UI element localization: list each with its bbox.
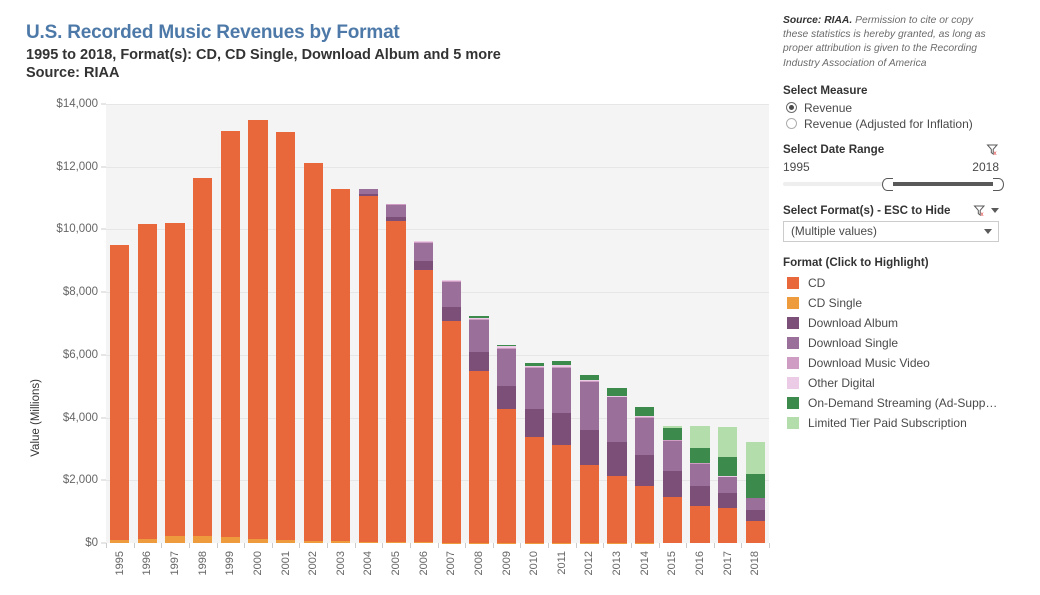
bar-segment[interactable] [580, 382, 599, 430]
chart-area: Value (Millions) $0$2,000$4,000$6,000$8,… [0, 104, 775, 595]
legend-item[interactable]: Download Single [783, 333, 1028, 353]
x-axis-tick [714, 543, 715, 548]
legend-label: Download Music Video [808, 356, 930, 370]
bar-segment[interactable] [331, 189, 350, 541]
x-axis-tick [769, 543, 770, 548]
x-axis-tick-label: 1997 [169, 551, 181, 575]
bar-stack[interactable] [580, 375, 599, 543]
plot-background [106, 104, 769, 543]
radio-selected-icon[interactable] [786, 102, 797, 113]
legend-swatch[interactable] [787, 317, 799, 329]
bar-segment[interactable] [525, 409, 544, 437]
bar-segment[interactable] [663, 428, 682, 440]
x-axis-tick [659, 543, 660, 548]
x-axis-tick [272, 543, 273, 548]
bar-segment[interactable] [607, 397, 626, 442]
bar-stack[interactable] [690, 426, 709, 543]
bar-segment[interactable] [718, 508, 737, 543]
bar-segment[interactable] [386, 205, 405, 217]
bar-segment[interactable] [110, 245, 129, 539]
legend-label: CD Single [808, 296, 862, 310]
y-axis-tick-label: $6,000 [63, 349, 98, 361]
legend-item[interactable]: Download Album [783, 313, 1028, 333]
bar-segment[interactable] [414, 243, 433, 262]
x-axis-tick-label: 2017 [722, 551, 734, 575]
bar-stack[interactable] [331, 189, 350, 543]
bar-segment[interactable] [497, 409, 516, 543]
date-range-max: 2018 [972, 160, 999, 174]
legend-item[interactable]: Limited Tier Paid Subscription [783, 413, 1028, 433]
legend-title: Format (Click to Highlight) [783, 256, 1028, 269]
legend-swatch[interactable] [787, 337, 799, 349]
bar-segment[interactable] [690, 448, 709, 463]
x-axis-tick-label: 2015 [666, 551, 678, 575]
bar-stack[interactable] [359, 189, 378, 543]
format-dropdown[interactable]: (Multiple values) [783, 221, 999, 242]
legend-swatch[interactable] [787, 357, 799, 369]
x-axis-tick [493, 543, 494, 548]
bar-stack[interactable] [525, 363, 544, 543]
legend-swatch[interactable] [787, 417, 799, 429]
x-axis-tick-label: 2011 [556, 551, 568, 575]
date-range-slider[interactable] [783, 176, 999, 192]
select-date-range-title: Select Date Range [783, 143, 884, 156]
x-axis-tick [741, 543, 742, 548]
x-axis-tick [244, 543, 245, 548]
bar-segment[interactable] [663, 441, 682, 471]
y-axis-tick-label: $4,000 [63, 412, 98, 424]
x-axis-tick-label: 1995 [114, 551, 126, 575]
bar-segment[interactable] [248, 120, 267, 539]
x-axis-tick [631, 543, 632, 548]
bar-segment[interactable] [746, 442, 765, 474]
x-axis-labels: 1995199619971998199920002001200220032004… [106, 543, 769, 595]
bar-series [106, 104, 769, 543]
source-note-bold: Source: RIAA. [783, 15, 852, 26]
x-axis-tick-label: 2000 [252, 551, 264, 575]
x-axis-tick-label: 2007 [445, 551, 457, 575]
bar-segment[interactable] [525, 437, 544, 543]
radio-unselected-icon[interactable] [786, 118, 797, 129]
bar-segment[interactable] [718, 477, 737, 493]
y-axis-tick-label: $12,000 [56, 161, 98, 173]
bar-segment[interactable] [607, 442, 626, 476]
bar-segment[interactable] [635, 418, 654, 456]
bar-segment[interactable] [746, 474, 765, 498]
bar-stack[interactable] [746, 442, 765, 543]
bar-segment[interactable] [193, 178, 212, 535]
x-axis-tick-label: 1999 [224, 551, 236, 575]
bar-segment[interactable] [635, 407, 654, 416]
bar-segment[interactable] [221, 131, 240, 538]
bar-stack[interactable] [718, 427, 737, 543]
bar-stack[interactable] [304, 163, 323, 543]
y-axis-tick-label: $14,000 [56, 98, 98, 110]
date-range-values: 1995 2018 [783, 160, 999, 174]
x-axis-tick [161, 543, 162, 548]
bar-segment[interactable] [580, 430, 599, 465]
legend-label: Limited Tier Paid Subscription [808, 416, 967, 430]
bar-segment[interactable] [690, 506, 709, 543]
format-dropdown-value: (Multiple values) [791, 224, 877, 238]
bar-segment[interactable] [497, 349, 516, 386]
bar-segment[interactable] [193, 536, 212, 543]
svg-text:x: x [980, 211, 984, 217]
x-axis-tick-label: 2001 [280, 551, 292, 575]
x-axis-tick [520, 543, 521, 548]
select-measure-title: Select Measure [783, 84, 1028, 97]
radio-label-revenue-adjusted: Revenue (Adjusted for Inflation) [804, 117, 973, 131]
legend-label: CD [808, 276, 825, 290]
control-panel: Source: RIAA. Permission to cite or copy… [783, 14, 1028, 433]
bar-segment[interactable] [635, 486, 654, 542]
x-axis-tick-label: 2014 [639, 551, 651, 575]
bar-segment[interactable] [469, 352, 488, 371]
bar-stack[interactable] [386, 204, 405, 543]
bar-stack[interactable] [635, 407, 654, 543]
slider-selected-range [887, 182, 999, 186]
source-note: Source: RIAA. Permission to cite or copy… [783, 14, 995, 71]
format-filter-header: Select Format(s) - ESC to Hide x [783, 204, 999, 217]
bar-segment[interactable] [607, 476, 626, 542]
bar-stack[interactable] [663, 426, 682, 543]
select-format-title: Select Format(s) - ESC to Hide [783, 204, 951, 217]
bar-stack[interactable] [414, 241, 433, 543]
radio-label-revenue: Revenue [804, 101, 852, 115]
bar-stack[interactable] [607, 388, 626, 543]
legend-label: Download Album [808, 316, 898, 330]
y-axis-tick-label: $8,000 [63, 286, 98, 298]
bar-stack[interactable] [552, 361, 571, 543]
bar-segment[interactable] [497, 386, 516, 409]
legend-swatch[interactable] [787, 397, 799, 409]
bar-segment[interactable] [442, 282, 461, 306]
legend: CDCD SingleDownload AlbumDownload Single… [783, 273, 1028, 433]
x-axis-tick [217, 543, 218, 548]
bar-segment[interactable] [607, 388, 626, 396]
x-axis-tick-label: 2013 [611, 551, 623, 575]
bar-stack[interactable] [193, 178, 212, 543]
bar-segment[interactable] [690, 486, 709, 506]
x-axis-tick [106, 543, 107, 548]
y-axis-labels: $0$2,000$4,000$6,000$8,000$10,000$12,000… [46, 104, 106, 544]
subtitle-line-2: Source: RIAA [26, 64, 646, 82]
bar-stack[interactable] [165, 223, 184, 543]
bar-stack[interactable] [276, 132, 295, 543]
x-axis-tick [465, 543, 466, 548]
x-axis-tick-label: 2018 [749, 551, 761, 575]
bar-segment[interactable] [359, 196, 378, 542]
svg-text:x: x [993, 150, 997, 156]
radio-option-revenue[interactable]: Revenue [786, 101, 1028, 115]
date-range-min: 1995 [783, 160, 810, 174]
x-axis-tick [189, 543, 190, 548]
subtitle-line-1: 1995 to 2018, Format(s): CD, CD Single, … [26, 46, 646, 64]
bar-segment[interactable] [718, 493, 737, 508]
x-axis-tick-label: 2012 [583, 551, 595, 575]
bar-stack[interactable] [469, 316, 488, 543]
x-axis-tick [603, 543, 604, 548]
format-filter-clear-icon[interactable]: x [973, 204, 986, 217]
bar-segment[interactable] [746, 521, 765, 543]
bar-segment[interactable] [276, 132, 295, 539]
bar-segment[interactable] [635, 455, 654, 486]
x-axis-tick-label: 2010 [528, 551, 540, 575]
y-axis-tick-label: $10,000 [56, 223, 98, 235]
bar-segment[interactable] [552, 445, 571, 543]
x-axis-tick [355, 543, 356, 548]
x-axis-tick [299, 543, 300, 548]
legend-item[interactable]: Other Digital [783, 373, 1028, 393]
legend-item[interactable]: On-Demand Streaming (Ad-Suppor… [783, 393, 1028, 413]
x-axis-tick [576, 543, 577, 548]
x-axis-tick [548, 543, 549, 548]
bar-segment[interactable] [304, 163, 323, 541]
y-axis-tick-label: $0 [85, 537, 98, 549]
bar-segment[interactable] [552, 368, 571, 414]
x-axis-tick-label: 1998 [197, 551, 209, 575]
bar-segment[interactable] [746, 510, 765, 521]
bar-segment[interactable] [525, 368, 544, 409]
legend-swatch[interactable] [787, 277, 799, 289]
x-axis-tick-label: 2002 [307, 551, 319, 575]
legend-item[interactable]: CD [783, 273, 1028, 293]
bar-stack[interactable] [138, 224, 157, 544]
bar-segment[interactable] [469, 320, 488, 352]
filter-clear-icon[interactable]: x [986, 143, 999, 156]
radio-option-revenue-adjusted[interactable]: Revenue (Adjusted for Inflation) [786, 117, 1028, 131]
x-axis-tick-label: 2009 [501, 551, 513, 575]
x-axis-tick-label: 2004 [362, 551, 374, 575]
legend-item[interactable]: Download Music Video [783, 353, 1028, 373]
x-axis-tick [382, 543, 383, 548]
bar-segment[interactable] [165, 536, 184, 543]
bar-stack[interactable] [110, 245, 129, 543]
bar-segment[interactable] [746, 498, 765, 510]
bar-segment[interactable] [442, 307, 461, 321]
x-axis-tick [327, 543, 328, 548]
bar-segment[interactable] [138, 224, 157, 539]
slider-handle-right[interactable] [993, 178, 1004, 191]
bar-segment[interactable] [663, 497, 682, 543]
bar-stack[interactable] [221, 131, 240, 543]
bar-segment[interactable] [690, 464, 709, 487]
bar-segment[interactable] [386, 221, 405, 542]
dashboard: U.S. Recorded Music Revenues by Format 1… [0, 0, 1040, 595]
title-block: U.S. Recorded Music Revenues by Format 1… [26, 22, 646, 82]
x-axis-tick-label: 2016 [694, 551, 706, 575]
x-axis-tick-label: 2008 [473, 551, 485, 575]
dropdown-chevron-down-icon[interactable] [984, 229, 992, 234]
slider-handle-left[interactable] [882, 178, 893, 191]
x-axis-tick [410, 543, 411, 548]
bar-segment[interactable] [718, 457, 737, 476]
bar-segment[interactable] [414, 270, 433, 542]
bar-segment[interactable] [690, 426, 709, 448]
x-axis-tick [438, 543, 439, 548]
bar-segment[interactable] [580, 465, 599, 542]
legend-swatch[interactable] [787, 377, 799, 389]
bar-segment[interactable] [718, 427, 737, 456]
x-axis-tick [686, 543, 687, 548]
y-axis-title: Value (Millions) [30, 379, 46, 457]
legend-label: Download Single [808, 336, 898, 350]
bar-segment[interactable] [414, 261, 433, 270]
y-axis-tick-label: $2,000 [63, 474, 98, 486]
x-axis-tick-label: 1996 [141, 551, 153, 575]
x-axis-tick-label: 2005 [390, 551, 402, 575]
x-axis-tick-label: 2006 [418, 551, 430, 575]
bar-segment[interactable] [663, 471, 682, 497]
x-axis-tick-label: 2003 [335, 551, 347, 575]
bar-segment[interactable] [442, 321, 461, 543]
legend-swatch[interactable] [787, 297, 799, 309]
legend-label: Other Digital [808, 376, 875, 390]
x-axis-tick [134, 543, 135, 548]
bar-segment[interactable] [469, 371, 488, 543]
date-range-header: Select Date Range x [783, 143, 999, 156]
bar-stack[interactable] [442, 280, 461, 543]
legend-label: On-Demand Streaming (Ad-Suppor… [808, 396, 1000, 410]
bar-stack[interactable] [248, 120, 267, 543]
bar-segment[interactable] [552, 413, 571, 445]
bar-stack[interactable] [497, 345, 516, 543]
bar-segment[interactable] [165, 223, 184, 536]
page-title: U.S. Recorded Music Revenues by Format [26, 22, 646, 44]
legend-item[interactable]: CD Single [783, 293, 1028, 313]
format-filter-chevron-down-icon[interactable] [991, 208, 999, 213]
